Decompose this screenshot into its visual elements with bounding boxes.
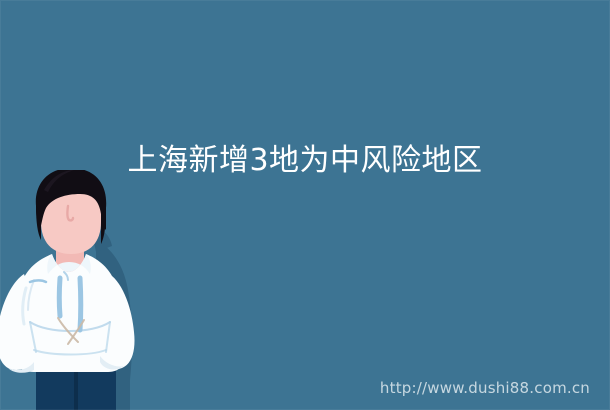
news-card: 上海新增3地为中风险地区 http://www.dushi88.com.cn: [0, 0, 610, 410]
watermark-url: http://www.dushi88.com.cn: [380, 379, 590, 397]
person-in-white-hoodie-illustration: [0, 170, 170, 410]
headline-text: 上海新增3地为中风险地区: [0, 143, 610, 179]
